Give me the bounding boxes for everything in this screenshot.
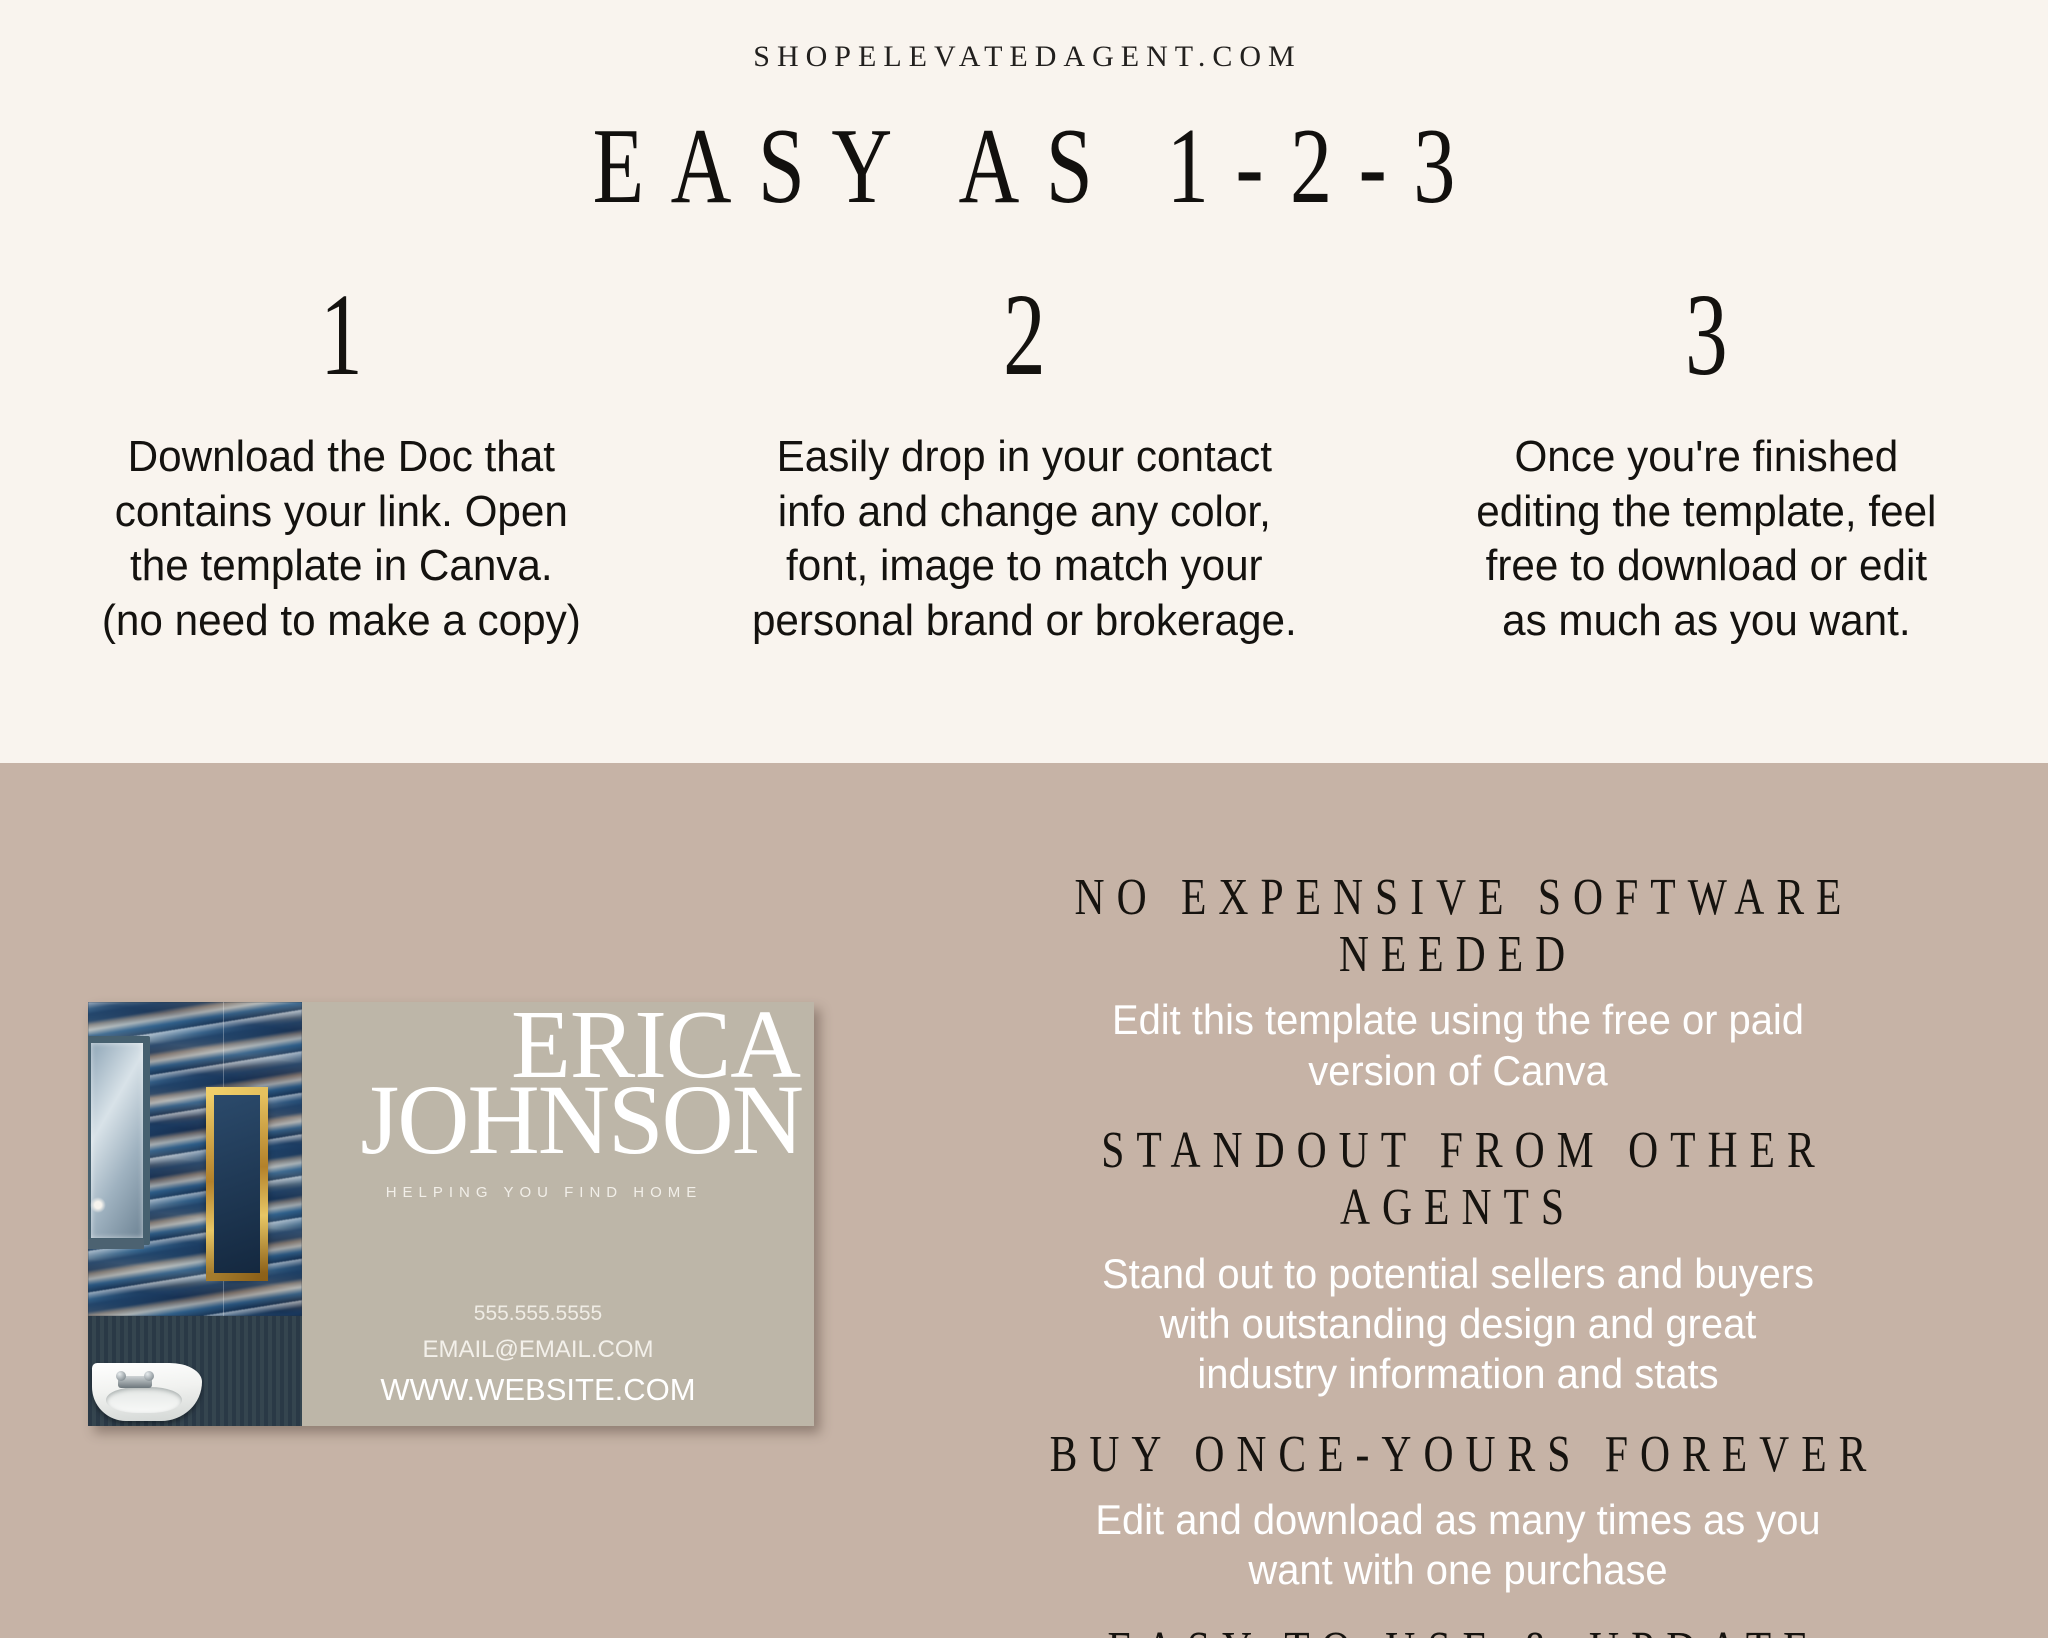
step-number: 1 bbox=[96, 276, 588, 394]
page-title: EASY AS 1-2-3 bbox=[225, 108, 1822, 227]
feature-body: Stand out to potential sellers and buyer… bbox=[898, 1249, 2019, 1400]
card-email: EMAIL@EMAIL.COM bbox=[302, 1336, 774, 1364]
steps-row: 1 Download the Doc that contains your li… bbox=[0, 276, 2048, 648]
feature-body: Edit this template using the free or pai… bbox=[898, 995, 2019, 1096]
step-3: 3 Once you're finished editing the templ… bbox=[1365, 276, 2048, 648]
feature-heading: EASY TO USE & UPDATE bbox=[986, 1622, 1930, 1638]
feature-item: STANDOUT FROM OTHER AGENTS Stand out to … bbox=[868, 1122, 2048, 1400]
promo-graphic: SHOPELEVATEDAGENT.COM EASY AS 1-2-3 1 Do… bbox=[0, 0, 2048, 1638]
bathroom-photo bbox=[88, 1002, 302, 1426]
top-section: SHOPELEVATEDAGENT.COM EASY AS 1-2-3 1 Do… bbox=[0, 0, 2048, 763]
card-phone: 555.555.5555 bbox=[302, 1302, 774, 1326]
step-description: Easily drop in your contact info and cha… bbox=[696, 430, 1351, 648]
site-url: SHOPELEVATEDAGENT.COM bbox=[0, 40, 2048, 74]
feature-item: BUY ONCE-YOURS FOREVER Edit and download… bbox=[868, 1426, 2048, 1596]
card-last-name: JOHNSON bbox=[190, 1080, 804, 1160]
feature-item: EASY TO USE & UPDATE No special design e… bbox=[868, 1622, 2048, 1638]
card-content-panel: ERICA JOHNSON HELPING YOU FIND HOME 555.… bbox=[302, 1002, 814, 1426]
flower bbox=[90, 1197, 106, 1213]
step-description: Once you're finished editing the templat… bbox=[1379, 430, 2034, 648]
step-2: 2 Easily drop in your contact info and c… bbox=[683, 276, 1366, 648]
feature-item: NO EXPENSIVE SOFTWARE NEEDED Edit this t… bbox=[868, 869, 2048, 1096]
step-number: 3 bbox=[1461, 276, 1953, 394]
step-1: 1 Download the Doc that contains your li… bbox=[0, 276, 683, 648]
feature-heading: BUY ONCE-YOURS FOREVER bbox=[986, 1426, 1930, 1483]
sink-basin bbox=[106, 1387, 182, 1413]
business-card-mockup: ERICA JOHNSON HELPING YOU FIND HOME 555.… bbox=[88, 1002, 814, 1426]
feature-body: Edit and download as many times as you w… bbox=[898, 1495, 2019, 1596]
card-tagline: HELPING YOU FIND HOME bbox=[302, 1184, 780, 1201]
card-website: WWW.WEBSITE.COM bbox=[302, 1372, 774, 1408]
feature-heading: STANDOUT FROM OTHER AGENTS bbox=[986, 1122, 1930, 1236]
feature-heading: NO EXPENSIVE SOFTWARE NEEDED bbox=[986, 869, 1930, 983]
step-number: 2 bbox=[778, 276, 1270, 394]
feature-list: NO EXPENSIVE SOFTWARE NEEDED Edit this t… bbox=[868, 763, 2048, 1638]
faucet bbox=[118, 1376, 152, 1388]
card-name: ERICA JOHNSON bbox=[302, 1006, 804, 1160]
window bbox=[88, 1036, 150, 1245]
bottom-section: ERICA JOHNSON HELPING YOU FIND HOME 555.… bbox=[0, 763, 2048, 1638]
step-description: Download the Doc that contains your link… bbox=[14, 430, 669, 648]
window-sill bbox=[88, 1239, 144, 1249]
